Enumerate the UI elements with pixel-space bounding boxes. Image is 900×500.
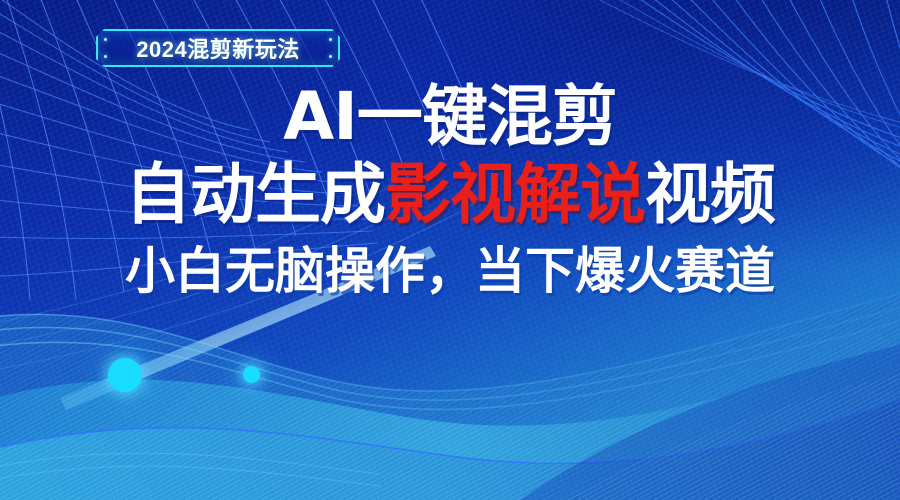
badge-corner-dot-top-right [329, 38, 332, 41]
promo-poster: 2024混剪新玩法 AI一键混剪 自动生成影视解说视频 小白无脑操作，当下爆火赛… [0, 0, 900, 500]
badge-corner-dot-bottom-left [104, 55, 107, 58]
headline-line-1: AI一键混剪 [0, 84, 900, 150]
glow-dot-small [243, 366, 260, 383]
badge-label: 2024混剪新玩法 [136, 32, 299, 64]
headline-line-2: 自动生成影视解说视频 [0, 162, 900, 228]
headline-line-3: 小白无脑操作，当下爆火赛道 [0, 246, 900, 296]
badge-corner-dot-top-left [104, 38, 107, 41]
glow-dot-large [108, 358, 142, 392]
headline-line-2-prefix: 自动生成 [125, 156, 385, 233]
headline-line-2-highlight: 影视解说 [385, 156, 645, 233]
headline-block: AI一键混剪 自动生成影视解说视频 小白无脑操作，当下爆火赛道 [0, 84, 900, 296]
badge-corner-dot-bottom-right [329, 55, 332, 58]
headline-line-2-suffix: 视频 [645, 156, 775, 233]
promo-badge: 2024混剪新玩法 [96, 29, 340, 67]
